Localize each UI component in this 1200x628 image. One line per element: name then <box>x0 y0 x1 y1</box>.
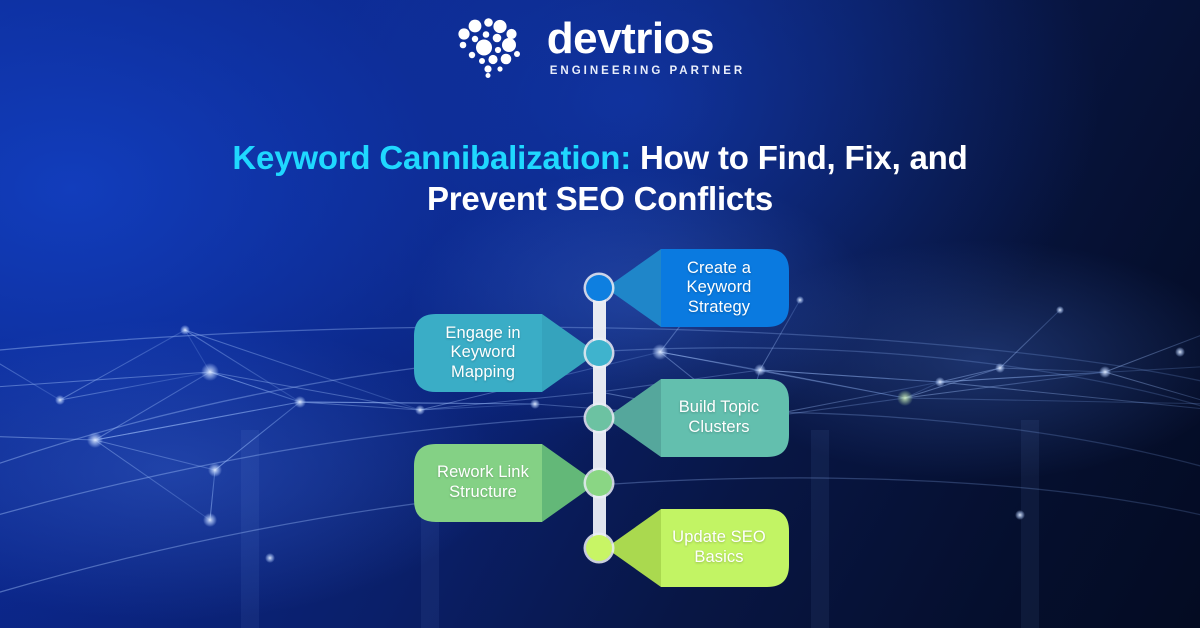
logo-name: devtrios <box>547 17 714 60</box>
timeline-node-3[interactable] <box>586 405 612 431</box>
timeline-node-5[interactable] <box>586 535 612 561</box>
poster-canvas: devtrios ENGINEERING PARTNER Keyword Can… <box>0 0 1200 628</box>
flow-step-3[interactable]: Build Topic Clusters <box>609 379 789 457</box>
logo-tagline: ENGINEERING PARTNER <box>547 65 745 77</box>
flow-step-4[interactable]: Rework Link Structure <box>412 444 594 522</box>
flow-step-3-shape <box>609 379 789 457</box>
flow-step-2-shape <box>412 314 594 392</box>
flow-step-1-shape <box>609 249 789 327</box>
brain-dots-icon <box>455 14 533 80</box>
flow-step-5-shape <box>609 509 789 587</box>
page-title: Keyword Cannibalization: How to Find, Fi… <box>170 138 1030 219</box>
flow-step-5[interactable]: Update SEO Basics <box>609 509 789 587</box>
title-accent: Keyword Cannibalization: <box>232 139 631 176</box>
process-flow-diagram: Create a Keyword Strategy Engage in Keyw… <box>0 0 1200 628</box>
timeline-node-2[interactable] <box>586 340 612 366</box>
flow-step-2[interactable]: Engage in Keyword Mapping <box>412 314 594 392</box>
brand-logo[interactable]: devtrios ENGINEERING PARTNER <box>0 14 1200 80</box>
logo-wordmark: devtrios ENGINEERING PARTNER <box>547 17 745 77</box>
timeline-node-4[interactable] <box>586 470 612 496</box>
flow-step-4-shape <box>412 444 594 522</box>
flow-step-1[interactable]: Create a Keyword Strategy <box>609 249 789 327</box>
timeline-node-1[interactable] <box>586 275 612 301</box>
